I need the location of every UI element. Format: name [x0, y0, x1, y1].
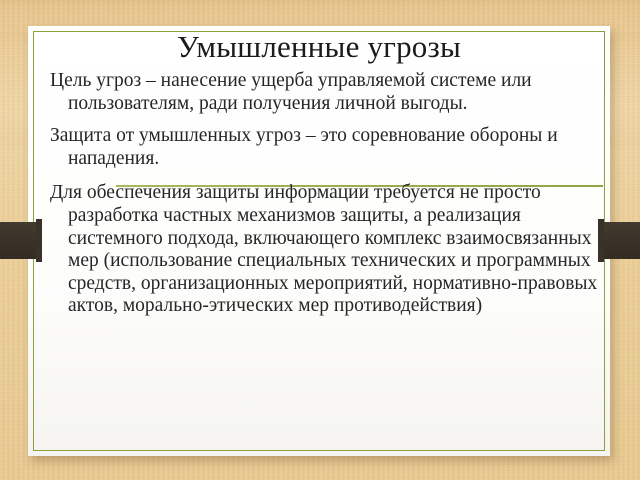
body-paragraph: Для обеспечения защиты информации требуе…: [50, 182, 600, 318]
body-paragraph: Защита от умышленных угроз – это соревно…: [50, 125, 600, 170]
slide-canvas: Умышленные угрозы Цель угроз – нанесение…: [0, 0, 640, 480]
slide-title: Умышленные угрозы: [38, 28, 600, 66]
left-bookmark-tab-cap: [36, 219, 42, 262]
slide-body: Цель угроз – нанесение ущерба управляемо…: [50, 70, 600, 318]
body-paragraph: Цель угроз – нанесение ущерба управляемо…: [50, 70, 600, 115]
left-bookmark-tab: [0, 222, 36, 259]
slide-content-card: Умышленные угрозы Цель угроз – нанесение…: [28, 26, 610, 456]
right-bookmark-tab-cap: [598, 219, 604, 262]
right-bookmark-tab: [604, 222, 640, 259]
